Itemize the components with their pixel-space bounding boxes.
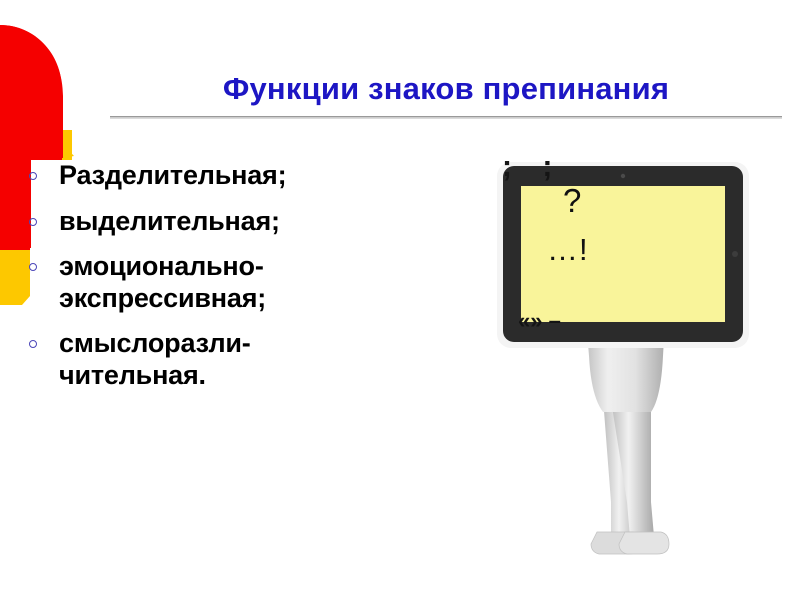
bullet-circle-icon <box>29 340 37 348</box>
marks-below-tablet: «» – <box>518 310 561 332</box>
bullet-circle-icon <box>29 263 37 271</box>
marks-above-tablet: ; ; <box>502 152 563 182</box>
list-item: эмоционально-экспрессивная; <box>26 251 356 314</box>
ellipsis-exclamation-glyph: …! <box>547 234 589 265</box>
illustration-figure-with-tablet: ; ; <box>455 150 800 590</box>
page-title: Функции знаков препинания <box>110 72 782 107</box>
title-divider-rule <box>110 116 782 119</box>
yellow-wedge-upper <box>40 130 72 160</box>
list-item: выделительная; <box>26 206 356 238</box>
figure-right-foot <box>619 532 669 554</box>
list-item-label: эмоционально-экспрессивная; <box>59 251 356 314</box>
slide-canvas: Функции знаков препинания Разделительная… <box>0 0 800 600</box>
tablet-camera-icon <box>621 174 625 178</box>
title-block: Функции знаков препинания <box>110 72 782 119</box>
tablet-screen-content: ? …! <box>503 182 653 287</box>
bullet-circle-icon <box>29 218 37 226</box>
bullet-list: Разделительная; выделительная; эмоционал… <box>26 160 356 405</box>
list-item: смыслоразли-чительная. <box>26 328 356 391</box>
tablet-side-button-icon <box>732 251 738 257</box>
list-item-label: смыслоразли-чительная. <box>59 328 356 391</box>
list-item-label: Разделительная; <box>59 160 356 192</box>
question-mark-glyph: ? <box>563 184 581 217</box>
yellow-triangle-accent <box>40 124 74 160</box>
bullet-circle-icon <box>29 172 37 180</box>
list-item: Разделительная; <box>26 160 356 192</box>
list-item-label: выделительная; <box>59 206 356 238</box>
